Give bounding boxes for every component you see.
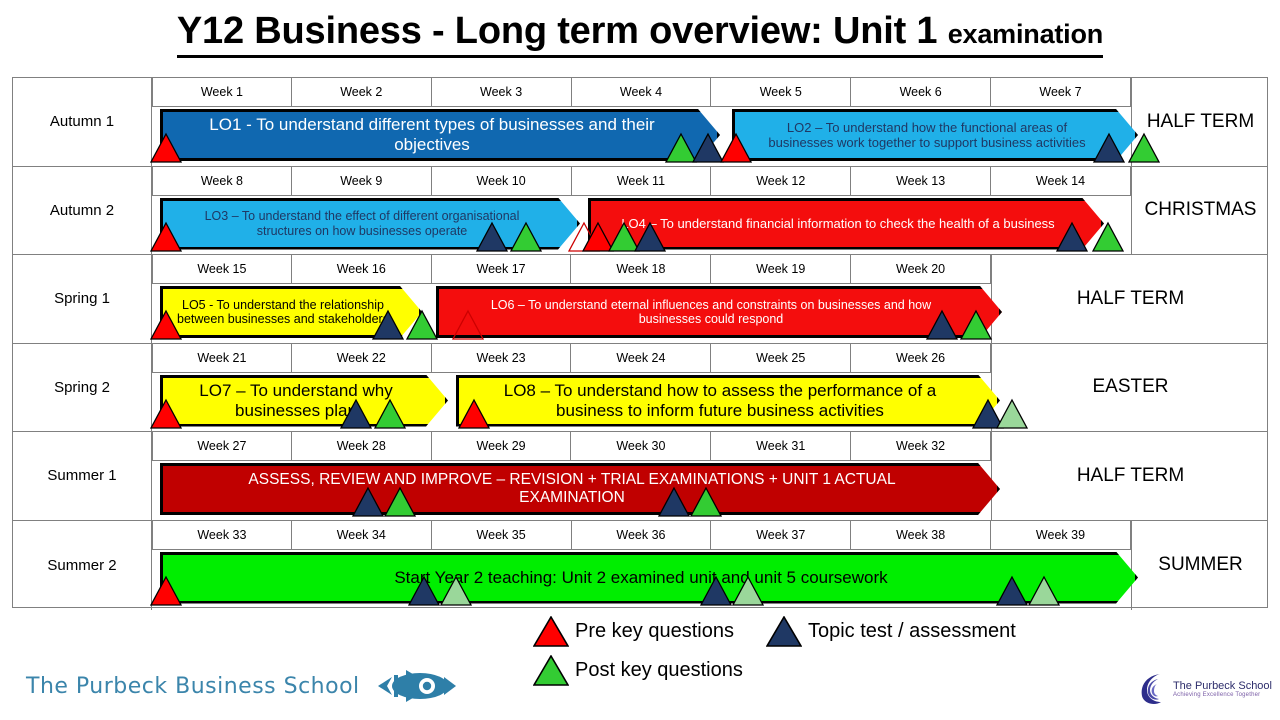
topic-test-marker[interactable] (476, 222, 508, 252)
week-header-cell: Week 32 (851, 432, 991, 461)
term-label-text: Summer 2 (47, 557, 116, 574)
triangle-shape (1029, 577, 1059, 605)
triangle-shape (151, 311, 181, 339)
triangle-shape (721, 134, 751, 162)
post-key-question-marker[interactable] (732, 576, 764, 606)
triangle-shape (341, 400, 371, 428)
week-header-label: Week 29 (477, 439, 526, 453)
week-header-cell: Week 19 (711, 255, 851, 284)
learning-objective-line: LO8 – To understand how to assess the pe… (504, 381, 937, 401)
week-header-label: Week 19 (756, 262, 805, 276)
week-header-label: Week 28 (337, 439, 386, 453)
pre-key-question-marker[interactable] (720, 133, 752, 163)
week-header-strip: Week 1Week 2Week 3Week 4Week 5Week 6Week… (152, 78, 1131, 107)
learning-objective-text: LO2 – To understand how the functional a… (768, 120, 1085, 150)
term-label-text: Spring 1 (54, 290, 110, 307)
holiday-label: HALF TERM (1077, 465, 1184, 487)
learning-objective-line: businesses work together to support busi… (768, 135, 1085, 150)
holiday-cell-half-term: HALF TERM (991, 255, 1269, 343)
learning-objective-banner[interactable]: LO1 - To understand different types of b… (160, 109, 720, 161)
post-key-question-marker[interactable] (1128, 133, 1160, 163)
triangle-shape (1129, 134, 1159, 162)
week-header-label: Week 37 (756, 528, 805, 542)
week-header-cell: Week 24 (571, 344, 711, 373)
term-row: Spring 2Week 21Week 22Week 23Week 24Week… (13, 344, 1267, 433)
triangle-shape (961, 311, 991, 339)
learning-objective-line: structures on how businesses operate (205, 224, 520, 239)
topic-test-marker[interactable] (700, 576, 732, 606)
learning-objective-line: EXAMINATION (248, 489, 895, 507)
term-label-text: Summer 1 (47, 467, 116, 484)
week-header-label: Week 30 (616, 439, 665, 453)
page-title-main: Y12 Business - Long term overview: Unit … (177, 10, 948, 52)
learning-objective-line: LO2 – To understand how the functional a… (768, 120, 1085, 135)
week-header-cell: Week 15 (152, 255, 292, 284)
learning-objective-line: LO6 – To understand eternal influences a… (491, 298, 931, 313)
page-title-suffix: examination (948, 19, 1103, 49)
holiday-label: HALF TERM (1077, 288, 1184, 310)
shell-spiral-icon (1139, 672, 1169, 706)
triangle-shape (375, 400, 405, 428)
week-header-label: Week 26 (896, 351, 945, 365)
topic-test-marker[interactable] (926, 310, 958, 340)
week-header-cell: Week 35 (432, 521, 572, 550)
term-label-text: Autumn 2 (50, 202, 114, 219)
triangle-shape (151, 577, 181, 605)
week-header-cell: Week 31 (711, 432, 851, 461)
week-header-cell: Week 30 (571, 432, 711, 461)
learning-objective-banner[interactable]: LO8 – To understand how to assess the pe… (456, 375, 1000, 427)
week-header-cell: Week 3 (432, 78, 572, 107)
learning-objective-line: business to inform future business activ… (504, 401, 937, 421)
week-header-label: Week 39 (1036, 528, 1085, 542)
pre-key-triangle-icon (533, 616, 569, 647)
post-key-question-marker[interactable] (440, 576, 472, 606)
post-key-question-marker[interactable] (406, 310, 438, 340)
triangle-shape (733, 577, 763, 605)
topic-test-triangle-icon (766, 616, 802, 647)
term-row: Summer 1Week 27Week 28Week 29Week 30Week… (13, 432, 1267, 521)
week-header-cell: Week 38 (851, 521, 991, 550)
term-label-text: Autumn 1 (50, 113, 114, 130)
term-row: Autumn 1Week 1Week 2Week 3Week 4Week 5We… (13, 78, 1267, 167)
triangle-shape (1094, 134, 1124, 162)
holiday-label: SUMMER (1158, 554, 1242, 576)
week-header-cell: Week 29 (432, 432, 572, 461)
learning-objective-text: LO3 – To understand the effect of differ… (205, 209, 520, 238)
week-header-label: Week 18 (616, 262, 665, 276)
learning-objective-line: LO1 - To understand different types of b… (209, 115, 654, 135)
pre-key-question-marker[interactable] (150, 399, 182, 429)
triangle-shape (151, 223, 181, 251)
post-key-question-marker[interactable] (374, 399, 406, 429)
week-header-label: Week 10 (477, 174, 526, 188)
triangle-shape (691, 488, 721, 516)
week-header-cell: Week 6 (851, 78, 991, 107)
post-key-question-marker[interactable] (510, 222, 542, 252)
legend-label-topic-test: Topic test / assessment (808, 620, 1016, 643)
week-header-cell: Week 4 (572, 78, 712, 107)
week-header-cell: Week 13 (851, 167, 991, 196)
week-header-cell: Week 28 (292, 432, 432, 461)
triangle-shape (1093, 223, 1123, 251)
triangle-shape (407, 311, 437, 339)
term-label-autumn-2: Autumn 2 (13, 167, 152, 255)
business-school-wordmark-text: The Purbeck Business School (26, 674, 360, 699)
week-header-label: Week 32 (896, 439, 945, 453)
week-header-cell: Week 10 (432, 167, 572, 196)
learning-objective-text: LO8 – To understand how to assess the pe… (504, 381, 937, 420)
term-row: Summer 2Week 33Week 34Week 35Week 36Week… (13, 521, 1267, 610)
legend-label-pre-key-questions: Pre key questions (575, 620, 734, 643)
term-label-spring-2: Spring 2 (13, 344, 152, 432)
week-header-label: Week 7 (1039, 85, 1081, 99)
week-header-label: Week 13 (896, 174, 945, 188)
pre-key-question-marker[interactable] (150, 576, 182, 606)
learning-objective-banner[interactable]: ASSESS, REVIEW AND IMPROVE – REVISION + … (160, 463, 1000, 515)
week-header-label: Week 14 (1036, 174, 1085, 188)
pre-key-question-marker[interactable] (150, 222, 182, 252)
term-label-autumn-1: Autumn 1 (13, 78, 152, 166)
learning-objective-line: LO5 - To understand the relationship (177, 298, 389, 313)
learning-objective-text: LO1 - To understand different types of b… (209, 115, 654, 154)
week-header-label: Week 12 (756, 174, 805, 188)
legend-row-2: Post key questions (533, 655, 1153, 686)
week-header-cell: Week 2 (292, 78, 432, 107)
term-label-summer-2: Summer 2 (13, 521, 152, 610)
legend-item-pre-key-questions: Pre key questions (533, 616, 734, 647)
pre-key-question-marker[interactable] (150, 133, 182, 163)
triangle-shape (659, 488, 689, 516)
week-header-cell: Week 22 (292, 344, 432, 373)
learning-objective-line: LO3 – To understand the effect of differ… (205, 209, 520, 224)
topic-test-marker[interactable] (634, 222, 666, 252)
week-header-label: Week 38 (896, 528, 945, 542)
week-header-strip: Week 21Week 22Week 23Week 24Week 25Week … (152, 344, 991, 373)
triangle-shape (927, 311, 957, 339)
week-header-label: Week 22 (337, 351, 386, 365)
triangle-shape (997, 400, 1027, 428)
learning-objective-line: objectives (209, 135, 654, 155)
triangle-shape (151, 134, 181, 162)
purbeck-school-name: The Purbeck School (1173, 680, 1272, 692)
week-header-label: Week 15 (197, 262, 246, 276)
week-header-cell: Week 8 (152, 167, 292, 196)
week-header-cell: Week 27 (152, 432, 292, 461)
week-header-label: Week 11 (617, 174, 665, 188)
week-header-label: Week 36 (616, 528, 665, 542)
week-header-label: Week 6 (900, 85, 942, 99)
triangle-shape (1057, 223, 1087, 251)
week-header-cell: Week 14 (991, 167, 1131, 196)
triangle-shape (477, 223, 507, 251)
learning-objective-line: businesses could respond (491, 312, 931, 327)
week-header-cell: Week 33 (152, 521, 292, 550)
week-header-label: Week 4 (620, 85, 662, 99)
term-row: Spring 1Week 15Week 16Week 17Week 18Week… (13, 255, 1267, 344)
purbeck-school-logo: The Purbeck School Achieving Excellence … (1139, 672, 1272, 706)
learning-objective-text: ASSESS, REVIEW AND IMPROVE – REVISION + … (248, 471, 895, 507)
week-header-cell: Week 16 (292, 255, 432, 284)
triangle-shape (409, 577, 439, 605)
week-header-cell: Week 7 (991, 78, 1131, 107)
week-header-strip: Week 33Week 34Week 35Week 36Week 37Week … (152, 521, 1131, 550)
topic-test-marker[interactable] (352, 487, 384, 517)
post-key-question-marker[interactable] (1092, 222, 1124, 252)
week-header-cell: Week 23 (432, 344, 572, 373)
learning-objective-line: between businesses and stakeholders (177, 312, 389, 327)
purbeck-school-logo-text: The Purbeck School Achieving Excellence … (1173, 680, 1272, 698)
triangle-shape (353, 488, 383, 516)
post-key-question-marker[interactable] (960, 310, 992, 340)
week-header-label: Week 8 (201, 174, 243, 188)
topic-test-marker[interactable] (408, 576, 440, 606)
topic-test-marker[interactable] (1093, 133, 1125, 163)
purbeck-school-tagline: Achieving Excellence Together (1173, 692, 1272, 698)
week-header-label: Week 31 (756, 439, 805, 453)
week-header-label: Week 24 (616, 351, 665, 365)
week-header-label: Week 20 (896, 262, 945, 276)
post-key-triangle-icon (533, 655, 569, 686)
week-header-label: Week 33 (197, 528, 246, 542)
pre-key-question-marker[interactable] (458, 399, 490, 429)
week-header-label: Week 9 (340, 174, 382, 188)
topic-test-marker[interactable] (996, 576, 1028, 606)
learning-objective-line: ASSESS, REVIEW AND IMPROVE – REVISION + … (248, 471, 895, 489)
term-row: Autumn 2Week 8Week 9Week 10Week 11Week 1… (13, 167, 1267, 256)
term-label-spring-1: Spring 1 (13, 255, 152, 343)
page-title-container: Y12 Business - Long term overview: Unit … (0, 10, 1280, 58)
topic-test-marker[interactable] (340, 399, 372, 429)
triangle-shape (373, 311, 403, 339)
legend-label-post-key-questions: Post key questions (575, 659, 743, 682)
holiday-label: CHRISTMAS (1145, 199, 1257, 221)
triangle-shape (511, 223, 541, 251)
post-key-question-marker[interactable] (690, 487, 722, 517)
week-header-cell: Week 17 (432, 255, 572, 284)
learning-objective-line: LO4 – To understand financial informatio… (621, 216, 1054, 231)
holiday-cell-half-term: HALF TERM (991, 432, 1269, 520)
holiday-cell-easter: EASTER (991, 344, 1269, 432)
learning-objective-text: LO5 - To understand the relationshipbetw… (177, 298, 389, 327)
learning-objective-text: LO4 – To understand financial informatio… (621, 216, 1054, 231)
legend-row-1: Pre key questions Topic test / assessmen… (533, 616, 1153, 647)
learning-objective-text: LO6 – To understand eternal influences a… (491, 298, 931, 327)
triangle-shape (693, 134, 723, 162)
week-header-label: Week 35 (477, 528, 526, 542)
week-header-label: Week 21 (197, 351, 246, 365)
triangle-shape (385, 488, 415, 516)
pre-key-question-marker[interactable] (150, 310, 182, 340)
week-header-cell: Week 37 (711, 521, 851, 550)
week-header-label: Week 1 (201, 85, 243, 99)
fish-rocket-icon (370, 665, 458, 707)
pre-key-question-marker[interactable] (452, 310, 484, 340)
week-header-cell: Week 25 (711, 344, 851, 373)
holiday-label: EASTER (1092, 376, 1168, 398)
week-header-strip: Week 27Week 28Week 29Week 30Week 31Week … (152, 432, 991, 461)
week-header-label: Week 16 (337, 262, 386, 276)
week-header-cell: Week 26 (851, 344, 991, 373)
term-label-summer-1: Summer 1 (13, 432, 152, 520)
learning-objective-banner[interactable]: Start Year 2 teaching: Unit 2 examined u… (160, 552, 1138, 604)
legend-item-topic-test: Topic test / assessment (766, 616, 1016, 647)
week-header-label: Week 5 (760, 85, 802, 99)
week-header-label: Week 3 (480, 85, 522, 99)
legend-item-post-key-questions: Post key questions (533, 655, 743, 686)
business-school-wordmark: The Purbeck Business School (26, 665, 458, 707)
triangle-shape (701, 577, 731, 605)
week-header-label: Week 25 (756, 351, 805, 365)
week-header-label: Week 34 (337, 528, 386, 542)
week-header-cell: Week 21 (152, 344, 292, 373)
week-header-cell: Week 18 (571, 255, 711, 284)
week-header-cell: Week 12 (711, 167, 851, 196)
holiday-cell-christmas: CHRISTMAS (1131, 167, 1269, 255)
week-header-cell: Week 5 (711, 78, 851, 107)
week-header-cell: Week 34 (292, 521, 432, 550)
week-header-label: Week 2 (340, 85, 382, 99)
long-term-overview-grid: Autumn 1Week 1Week 2Week 3Week 4Week 5We… (12, 77, 1268, 608)
week-header-cell: Week 9 (292, 167, 432, 196)
post-key-question-marker[interactable] (1028, 576, 1060, 606)
week-header-cell: Week 1 (152, 78, 292, 107)
week-header-strip: Week 8Week 9Week 10Week 11Week 12Week 13… (152, 167, 1131, 196)
triangle-shape (151, 400, 181, 428)
topic-test-marker[interactable] (1056, 222, 1088, 252)
topic-test-marker[interactable] (372, 310, 404, 340)
holiday-cell-summer: SUMMER (1131, 521, 1269, 610)
week-header-cell: Week 36 (572, 521, 712, 550)
post-key-question-marker[interactable] (996, 399, 1028, 429)
page-title: Y12 Business - Long term overview: Unit … (177, 10, 1103, 58)
week-header-label: Week 17 (477, 262, 526, 276)
week-header-label: Week 23 (477, 351, 526, 365)
learning-objective-banner[interactable]: LO2 – To understand how the functional a… (732, 109, 1138, 161)
triangle-shape (453, 311, 483, 339)
learning-objective-banner[interactable]: LO6 – To understand eternal influences a… (436, 286, 1002, 338)
post-key-question-marker[interactable] (384, 487, 416, 517)
legend: Pre key questions Topic test / assessmen… (533, 616, 1153, 694)
week-header-label: Week 27 (197, 439, 246, 453)
term-label-text: Spring 2 (54, 379, 110, 396)
week-header-strip: Week 15Week 16Week 17Week 18Week 19Week … (152, 255, 991, 284)
week-header-cell: Week 20 (851, 255, 991, 284)
week-header-cell: Week 11 (572, 167, 712, 196)
topic-test-marker[interactable] (658, 487, 690, 517)
week-header-cell: Week 39 (991, 521, 1131, 550)
triangle-shape (459, 400, 489, 428)
holiday-label: HALF TERM (1147, 111, 1254, 133)
triangle-shape (635, 223, 665, 251)
triangle-shape (441, 577, 471, 605)
triangle-shape (997, 577, 1027, 605)
